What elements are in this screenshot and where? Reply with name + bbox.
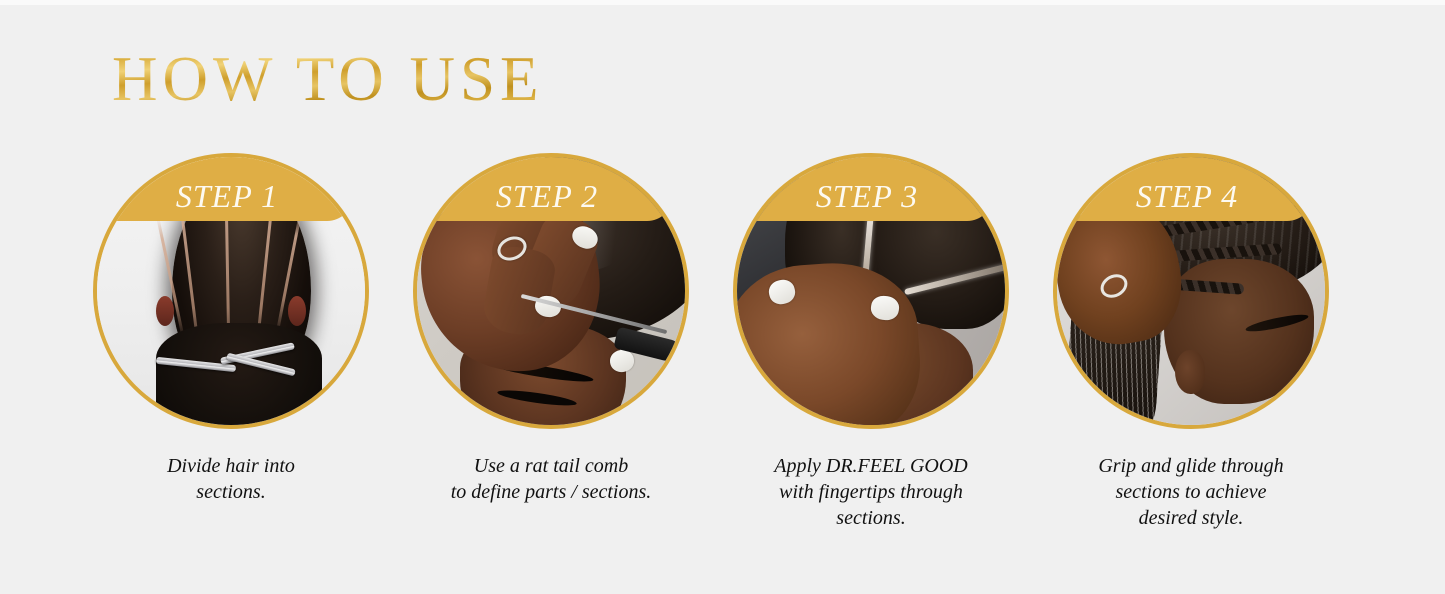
step-caption-3: Apply DR.FEEL GOOD with fingertips throu… <box>716 453 1026 531</box>
step-circle-3: STEP 3 <box>733 153 1009 429</box>
step-badge-label-4: STEP 4 <box>1057 179 1317 213</box>
step-circle-2: STEP 2 <box>413 153 689 429</box>
top-edge-strip <box>0 0 1445 5</box>
step-circle-1: STEP 1 <box>93 153 369 429</box>
step-circle-wrap-1: STEP 1 <box>93 153 369 429</box>
how-to-use-section: HOW TO USE <box>0 0 1445 594</box>
step-badge-label-3: STEP 3 <box>737 179 997 213</box>
step-caption-1: Divide hair into sections. <box>93 453 369 505</box>
step-circle-4: STEP 4 <box>1053 153 1329 429</box>
step-circle-wrap-4: STEP 4 <box>1053 153 1329 429</box>
step-circle-wrap-3: STEP 3 <box>733 153 1009 429</box>
page-title: HOW TO USE <box>112 44 544 114</box>
step-caption-2: Use a rat tail comb to define parts / se… <box>401 453 701 505</box>
step-card-2: STEP 2 Use a rat tail comb to define par… <box>413 153 689 429</box>
step-badge-label-2: STEP 2 <box>417 179 677 213</box>
step-card-4: STEP 4 Grip and glide through sections t… <box>1053 153 1329 429</box>
step-badge-label-1: STEP 1 <box>97 179 357 213</box>
step-card-3: STEP 3 Apply DR.FEEL GOOD with fingertip… <box>733 153 1009 429</box>
step-card-1: STEP 1 Divide hair into sections. <box>93 153 369 429</box>
nape-hair <box>156 323 322 425</box>
step-circle-wrap-2: STEP 2 <box>413 153 689 429</box>
step-caption-4: Grip and glide through sections to achie… <box>1036 453 1346 531</box>
ear <box>1175 350 1205 394</box>
steps-row: STEP 1 Divide hair into sections. <box>0 153 1445 553</box>
